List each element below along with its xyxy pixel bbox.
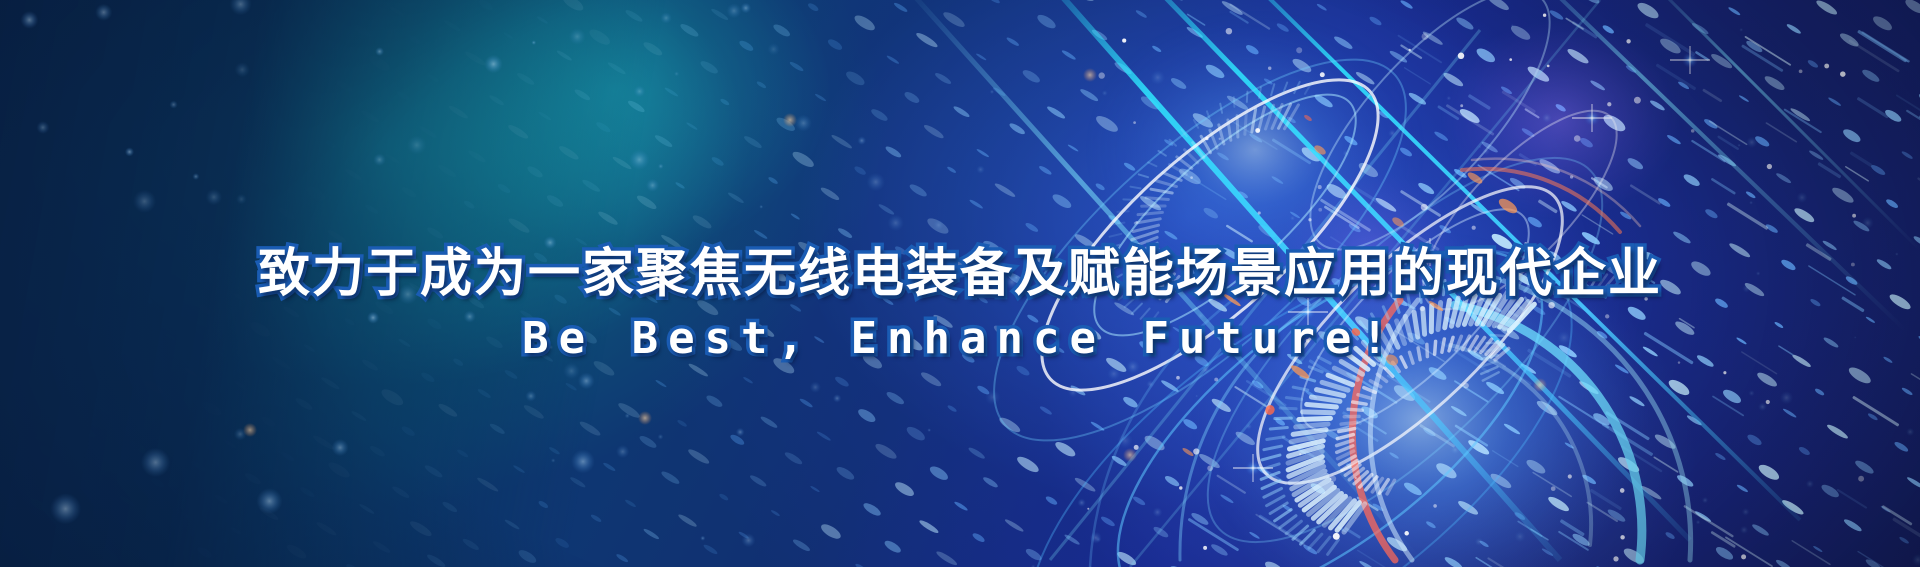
- headline-chinese: 致力于成为一家聚焦无线电装备及赋能场景应用的现代企业: [0, 243, 1920, 305]
- hero-banner: 致力于成为一家聚焦无线电装备及赋能场景应用的现代企业 Be Best, Enha…: [0, 0, 1920, 567]
- headline-block: 致力于成为一家聚焦无线电装备及赋能场景应用的现代企业 Be Best, Enha…: [0, 243, 1920, 367]
- headline-english: Be Best, Enhance Future!: [0, 311, 1920, 367]
